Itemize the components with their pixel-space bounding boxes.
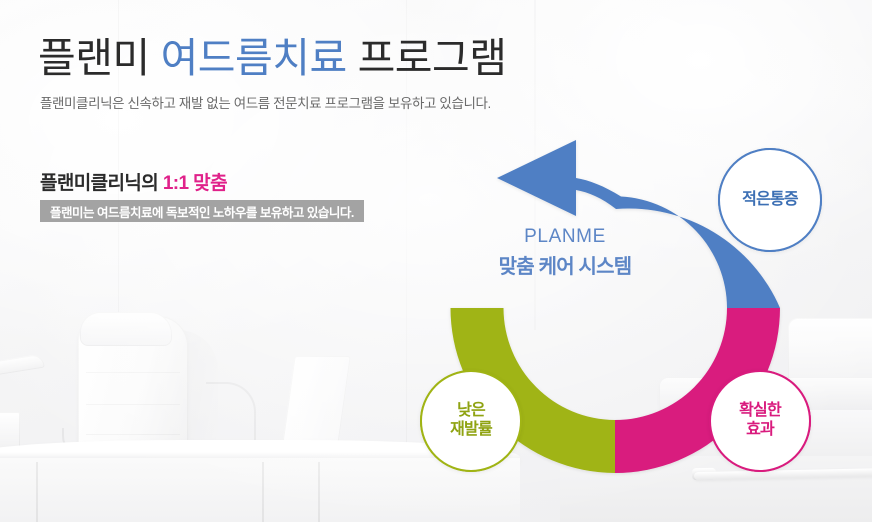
node-relapse-label-line2: 재발률 (450, 421, 492, 440)
slide-canvas: 플랜미 여드름치료 프로그램 플랜미클리닉은 신속하고 재발 없는 여드름 전문… (0, 0, 872, 522)
node-effect[interactable]: 확실한 효과 (709, 370, 811, 472)
node-pain[interactable]: 적은통증 (718, 148, 822, 252)
node-relapse[interactable]: 낮은 재발률 (420, 370, 522, 472)
node-effect-label-line1: 확실한 (739, 402, 781, 421)
node-pain-label: 적은통증 (742, 191, 798, 210)
node-relapse-label-line1: 낮은 (457, 402, 485, 421)
node-effect-label-line2: 효과 (746, 421, 774, 440)
